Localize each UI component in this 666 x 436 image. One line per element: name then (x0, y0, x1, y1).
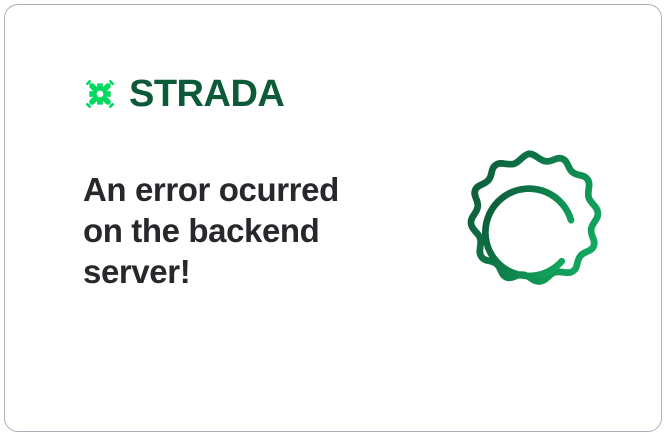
error-card: STRADA An error ocurred on the backend s… (4, 4, 662, 432)
gear-spinner-icon (445, 142, 613, 310)
brand-lockup: STRADA (81, 75, 284, 113)
error-headline: An error ocurred on the backend server! (83, 169, 383, 292)
brand-name: STRADA (129, 75, 284, 113)
error-screen: STRADA An error ocurred on the backend s… (0, 0, 666, 436)
strada-asterisk-icon (81, 75, 119, 113)
